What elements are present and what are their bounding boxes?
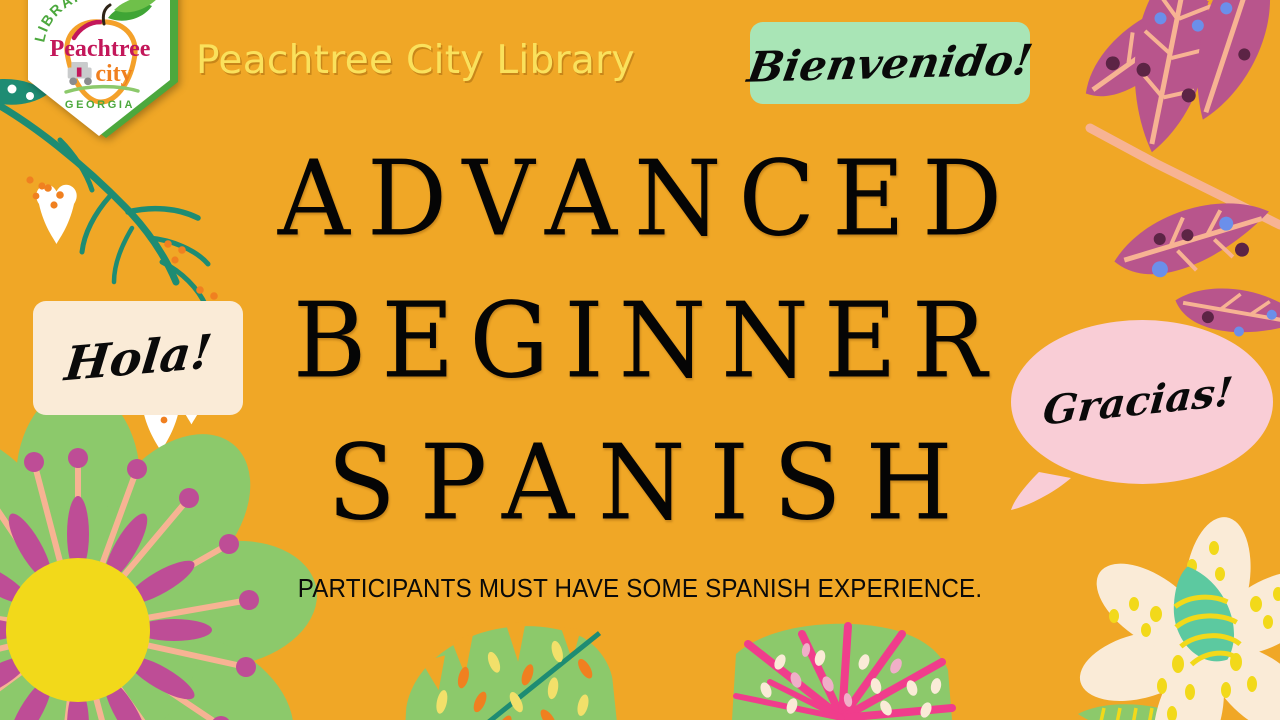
logo-georgia-text: GEORGIA <box>65 99 135 111</box>
logo-peachtree-text: Peachtree <box>50 36 151 62</box>
poster-canvas: LIBRARY Peachtree city GEORGIA Peachtree… <box>0 0 1280 720</box>
subtitle-requirement: PARTICIPANTS MUST HAVE SOME SPANISH EXPE… <box>45 573 1235 604</box>
badge-hola: Hola! <box>33 301 243 415</box>
speech-bubble-gracias: Gracias! <box>1009 316 1277 521</box>
badge-bienvenido-label: Bienvenido! <box>744 35 1036 91</box>
headline-line-advanced: ADVANCED <box>0 125 1280 273</box>
peachtree-city-library-logo[interactable]: LIBRARY Peachtree city GEORGIA <box>22 0 184 141</box>
caladium-leaf-decoration <box>732 624 952 720</box>
badge-hola-label: Hola! <box>62 324 214 391</box>
monstera-leaf-decoration <box>393 612 618 720</box>
badge-bienvenido: Bienvenido! <box>750 22 1030 104</box>
organization-title: Peachtree City Library <box>196 38 635 83</box>
logo-city-text: city <box>95 61 132 87</box>
